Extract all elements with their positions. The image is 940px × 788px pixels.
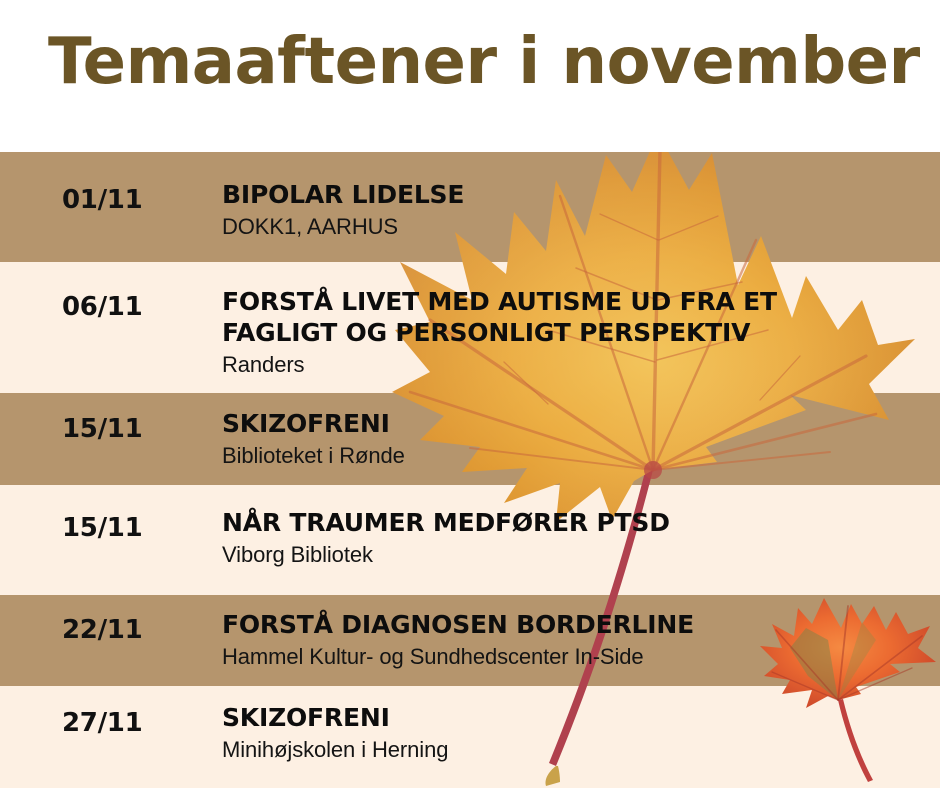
poster-header: Temaaftener i november bbox=[0, 0, 940, 152]
event-row-3[interactable]: 15/11 SKIZOFRENI Biblioteket i Rønde bbox=[0, 393, 940, 485]
event-title: NÅR TRAUMER MEDFØRER PTSD bbox=[222, 507, 930, 538]
event-venue: DOKK1, AARHUS bbox=[222, 213, 930, 242]
event-text-block: NÅR TRAUMER MEDFØRER PTSD Viborg Bibliot… bbox=[222, 507, 930, 570]
event-row-1[interactable]: 01/11 BIPOLAR LIDELSE DOKK1, AARHUS bbox=[0, 152, 940, 262]
event-poster: Temaaftener i november 01/11 BIPOLAR LID… bbox=[0, 0, 940, 788]
event-venue: Randers bbox=[222, 351, 930, 380]
event-text-block: SKIZOFRENI Minihøjskolen i Herning bbox=[222, 702, 930, 765]
event-venue: Hammel Kultur- og Sundhedscenter In-Side bbox=[222, 643, 930, 672]
event-title: BIPOLAR LIDELSE bbox=[222, 179, 930, 210]
event-date: 15/11 bbox=[62, 414, 142, 444]
event-text-block: SKIZOFRENI Biblioteket i Rønde bbox=[222, 408, 930, 471]
event-venue: Viborg Bibliotek bbox=[222, 541, 930, 570]
event-row-2[interactable]: 06/11 FORSTÅ LIVET MED AUTISME UD FRA ET… bbox=[0, 262, 940, 393]
event-title: FORSTÅ LIVET MED AUTISME UD FRA ET FAGLI… bbox=[222, 286, 930, 348]
event-venue: Biblioteket i Rønde bbox=[222, 442, 930, 471]
event-date: 27/11 bbox=[62, 708, 142, 738]
event-title: SKIZOFRENI bbox=[222, 408, 930, 439]
event-venue: Minihøjskolen i Herning bbox=[222, 736, 930, 765]
event-row-4[interactable]: 15/11 NÅR TRAUMER MEDFØRER PTSD Viborg B… bbox=[0, 485, 940, 595]
event-date: 01/11 bbox=[62, 185, 142, 215]
event-title: SKIZOFRENI bbox=[222, 702, 930, 733]
event-row-5[interactable]: 22/11 FORSTÅ DIAGNOSEN BORDERLINE Hammel… bbox=[0, 595, 940, 686]
event-date: 22/11 bbox=[62, 615, 142, 645]
event-title: FORSTÅ DIAGNOSEN BORDERLINE bbox=[222, 609, 930, 640]
event-row-6[interactable]: 27/11 SKIZOFRENI Minihøjskolen i Herning bbox=[0, 686, 940, 788]
event-date: 06/11 bbox=[62, 292, 142, 322]
event-text-block: BIPOLAR LIDELSE DOKK1, AARHUS bbox=[222, 179, 930, 242]
event-text-block: FORSTÅ DIAGNOSEN BORDERLINE Hammel Kultu… bbox=[222, 609, 930, 672]
event-text-block: FORSTÅ LIVET MED AUTISME UD FRA ET FAGLI… bbox=[222, 286, 930, 380]
event-date: 15/11 bbox=[62, 513, 142, 543]
page-title: Temaaftener i november bbox=[48, 22, 920, 102]
